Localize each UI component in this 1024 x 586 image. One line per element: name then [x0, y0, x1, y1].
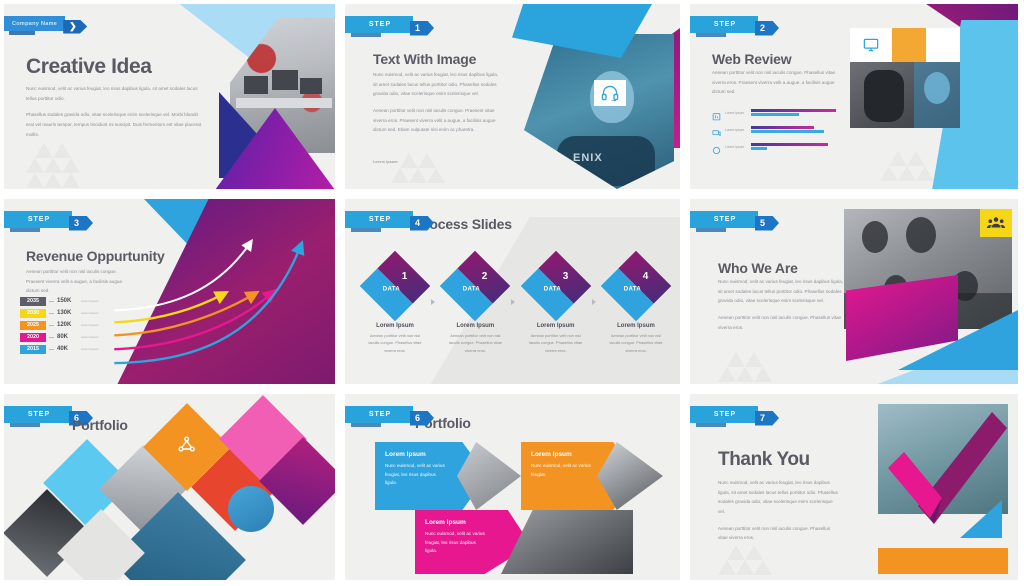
body-paragraph: Aenean porttitor velit non nisl iaculis …	[26, 267, 130, 296]
step-ribbon: STEP	[345, 211, 413, 228]
step-ribbon: STEP	[345, 16, 413, 33]
step-body: Aenean porttitor velit non nisl iaculis …	[361, 332, 429, 354]
legend-year: 2025	[20, 321, 46, 330]
slide-cell-7[interactable]: STEP 6 Portfolio	[0, 390, 341, 586]
chart-row: Lorem Ipsum	[712, 121, 839, 138]
panel-body: Nunc euismod, velit ac varius feugiat, l…	[425, 530, 487, 556]
step-heading: Lorem Ipsum	[441, 323, 509, 329]
slide-grid: Company Name ❯ Creative Idea Nunc euismo…	[0, 0, 1024, 586]
body-paragraph: Nunc euismod, velit ac varius feugiat, l…	[718, 277, 844, 306]
legend-caption: Lorem Ipsum	[81, 335, 103, 339]
step-badge[interactable]: STEP 7	[690, 406, 779, 423]
body-paragraph: Aenean porttitor velit non nisl iaculis …	[712, 68, 836, 97]
panel-body: Nunc euismod, velit ac varius feugiat, l…	[385, 462, 447, 488]
slide-cell-8[interactable]: STEP 6 Portfolio Lorem Ipsum Nunc euismo…	[341, 390, 686, 586]
step-heading: Lorem Ipsum	[361, 323, 429, 329]
photo-shirt: ENIX	[557, 136, 655, 186]
step-label: STEP	[714, 411, 736, 418]
slide-cell-6[interactable]: STEP 5 Who We Are Nunc euismod, velit ac…	[686, 195, 1024, 390]
circle-icon	[712, 142, 721, 151]
body-paragraph: Aenean porttitor velit non nisl iaculis …	[718, 524, 840, 543]
step-diamond: 1 DATA	[360, 251, 431, 322]
process-step[interactable]: 4 DATA Lorem Ipsum Aenean porttitor veli…	[602, 261, 670, 354]
legend-year: 2015	[20, 345, 46, 354]
legend-caption: Lorem Ipsum	[81, 347, 103, 351]
caption: Lorem Ipsum	[373, 160, 398, 164]
monitor-icon	[850, 28, 892, 62]
legend-caption: Lorem Ipsum	[81, 323, 103, 327]
step-number: 3	[74, 219, 79, 228]
legend-dash	[49, 313, 54, 314]
legend-year: 2020	[20, 333, 46, 342]
orange-bar	[878, 548, 1008, 574]
legend-year: 2030	[20, 309, 46, 318]
slide-cell-3[interactable]: STEP 2 Web Review Aenean porttitor velit…	[686, 0, 1024, 195]
page-title: Who We Are	[718, 261, 798, 275]
step-number: 2	[760, 24, 765, 33]
step-diamond: 2 DATA	[440, 251, 511, 322]
slide-cell-5[interactable]: STEP 4 Process Slides 1 DATA	[341, 195, 686, 390]
legend-value: 80K	[57, 334, 81, 340]
step-label: STEP	[714, 216, 736, 223]
page-title: Creative Idea	[26, 56, 152, 77]
step-number-knob: 3	[69, 216, 93, 231]
amber-block	[892, 28, 926, 62]
body-paragraph: Aenean porttitor velit non nisl iaculis …	[373, 106, 501, 135]
step-label: STEP	[28, 411, 50, 418]
step-heading: Lorem Ipsum	[602, 323, 670, 329]
step-ribbon: STEP	[4, 211, 72, 228]
chart-bars	[751, 109, 839, 117]
photo-face	[924, 72, 950, 104]
step-arrow-icon	[511, 299, 515, 305]
step-body: Aenean porttitor velit non nisl iaculis …	[522, 332, 590, 354]
company-ribbon: Company Name	[4, 16, 65, 31]
chart-bars	[751, 126, 839, 134]
slide-portfolio-panels[interactable]: STEP 6 Portfolio Lorem Ipsum Nunc euismo…	[345, 394, 680, 580]
step-badge[interactable]: STEP 6	[345, 406, 434, 423]
slide-who-we-are[interactable]: STEP 5 Who We Are Nunc euismod, velit ac…	[690, 199, 1018, 384]
legend-value: 120K	[57, 322, 81, 328]
legend-dash	[49, 325, 54, 326]
step-body: Aenean porttitor velit non nisl iaculis …	[441, 332, 509, 354]
step-number: 6	[415, 414, 420, 423]
headset-icon	[594, 80, 626, 106]
process-step[interactable]: 2 DATA Lorem Ipsum Aenean porttitor veli…	[441, 261, 509, 354]
bar-primary	[751, 126, 814, 129]
badge-tail	[351, 423, 381, 427]
page-title: Thank You	[718, 450, 810, 469]
panel-heading: Lorem Ipsum	[385, 451, 477, 458]
body-paragraph: Phasellus sodales gravida odio, vitae sc…	[26, 110, 206, 139]
step-label: STEP	[369, 21, 391, 28]
step-label: STEP	[714, 21, 736, 28]
chart-bars	[751, 143, 839, 151]
company-name-badge[interactable]: Company Name ❯	[4, 16, 87, 31]
slide-creative-idea[interactable]: Company Name ❯ Creative Idea Nunc euismo…	[4, 4, 335, 189]
panel-photo-classroom	[501, 510, 633, 574]
slide-portfolio-mosaic[interactable]: STEP 6 Portfolio	[4, 394, 335, 580]
step-arrow-icon	[431, 299, 435, 305]
slide-text-with-image[interactable]: ENIX STEP 1 Te	[345, 4, 680, 189]
process-steps: 1 DATA Lorem Ipsum Aenean porttitor veli…	[361, 261, 670, 354]
chevron-right-icon: ❯	[63, 20, 87, 34]
revenue-legend: 2035 150K Lorem Ipsum 2030 130K Lorem Ip…	[20, 295, 103, 355]
slide-cell-9[interactable]: STEP 7 Thank You Nunc euismod, velit ac …	[686, 390, 1024, 586]
legend-row: 2025 120K Lorem Ipsum	[20, 319, 103, 331]
body-paragraph: Nunc euismod, velit ac varius feugiat, l…	[26, 84, 206, 103]
slide-process[interactable]: STEP 4 Process Slides 1 DATA	[345, 199, 680, 384]
step-number: 7	[760, 414, 765, 423]
badge-tail	[9, 31, 35, 35]
legend-dash	[49, 337, 54, 338]
person-photo: ENIX	[524, 34, 674, 189]
step-data-label: DATA	[527, 287, 577, 293]
legend-value: 40K	[57, 346, 81, 352]
step-diamond: 4 DATA	[601, 251, 672, 322]
chart-row-label: Lorem Ipsum	[725, 128, 751, 132]
body-paragraph: Nunc euismod, velit ac varius feugiat, l…	[718, 478, 840, 517]
step-number-knob: 7	[755, 411, 779, 426]
page-title: Text With Image	[373, 52, 476, 66]
step-badge[interactable]: STEP 1	[345, 16, 434, 33]
slide-web-review[interactable]: STEP 2 Web Review Aenean porttitor velit…	[690, 4, 1018, 189]
page-title: Web Review	[712, 52, 791, 66]
step-data-label: DATA	[447, 287, 497, 293]
badge-tail	[696, 33, 726, 37]
step-badge[interactable]: STEP 2	[690, 16, 779, 33]
page-title: Portfolio	[72, 418, 128, 432]
body-paragraph: Nunc euismod, velit ac varius feugiat, l…	[373, 70, 501, 99]
triangle-watermark	[718, 351, 804, 384]
step-badge[interactable]: STEP 5	[690, 211, 779, 228]
step-number-knob: 2	[755, 21, 779, 36]
company-name-label: Company Name	[12, 21, 57, 27]
process-step[interactable]: 1 DATA Lorem Ipsum Aenean porttitor veli…	[361, 261, 429, 354]
legend-dash	[49, 349, 54, 350]
photo-chair	[864, 70, 904, 122]
step-data-label: DATA	[607, 287, 657, 293]
step-body: Aenean porttitor velit non nisl iaculis …	[602, 332, 670, 354]
step-ribbon: STEP	[345, 406, 413, 423]
workspace-photo	[850, 62, 960, 128]
bar-secondary	[751, 113, 799, 116]
badge-tail	[10, 423, 40, 427]
panel-heading: Lorem Ipsum	[425, 519, 521, 526]
step-number: 2	[460, 271, 510, 282]
slide-cell-4[interactable]: STEP 3 Revenue Oppurtunity Aenean portti…	[0, 195, 341, 390]
legend-row: 2020 80K Lorem Ipsum	[20, 331, 103, 343]
legend-caption: Lorem Ipsum	[81, 311, 103, 315]
process-step[interactable]: 3 DATA Lorem Ipsum Aenean porttitor veli…	[522, 261, 590, 354]
step-label: STEP	[369, 411, 391, 418]
step-ribbon: STEP	[690, 211, 758, 228]
step-arrow-icon	[592, 299, 596, 305]
step-ribbon: STEP	[4, 406, 72, 423]
people-group-icon	[980, 209, 1012, 237]
step-badge[interactable]: STEP 4	[345, 211, 434, 228]
badge-tail	[10, 228, 40, 232]
step-number: 1	[415, 24, 420, 33]
chart-bar-icon	[712, 108, 721, 117]
badge-tail	[696, 228, 726, 232]
badge-tail	[696, 423, 726, 427]
step-data-label: DATA	[366, 287, 416, 293]
step-number: 4	[621, 271, 671, 282]
slide-revenue-opportunity[interactable]: STEP 3 Revenue Oppurtunity Aenean portti…	[4, 199, 335, 384]
triangle-watermark	[26, 142, 112, 188]
bar-primary	[751, 143, 828, 146]
step-number: 1	[380, 271, 430, 282]
chart-row: Lorem Ipsum	[712, 138, 839, 155]
slide-cell-1[interactable]: Company Name ❯ Creative Idea Nunc euismo…	[0, 0, 341, 195]
chart-row-label: Lorem Ipsum	[725, 145, 751, 149]
chart-row-label: Lorem Ipsum	[725, 111, 751, 115]
step-number: 4	[415, 219, 420, 228]
slide-thank-you[interactable]: STEP 7 Thank You Nunc euismod, velit ac …	[690, 394, 1018, 580]
triangle-watermark	[391, 152, 477, 189]
magenta-panel	[117, 199, 335, 384]
step-diamond: 3 DATA	[520, 251, 591, 322]
network-share-icon	[177, 435, 197, 460]
step-number-knob: 1	[410, 21, 434, 36]
photo-shirt-text: ENIX	[573, 152, 603, 164]
mosaic-globe	[228, 486, 274, 532]
step-label: STEP	[369, 216, 391, 223]
step-ribbon: STEP	[690, 16, 758, 33]
panel-body: Nunc euismod, velit ac varius feugiat.	[531, 462, 593, 479]
page-title: Revenue Oppurtunity	[26, 249, 165, 263]
step-ribbon: STEP	[690, 406, 758, 423]
bar-secondary	[751, 130, 824, 133]
step-badge[interactable]: STEP 3	[4, 211, 93, 228]
step-label: STEP	[28, 216, 50, 223]
chat-bubble-icon	[712, 125, 721, 134]
badge-tail	[351, 33, 381, 37]
chart-row: Lorem Ipsum	[712, 104, 839, 121]
badge-tail	[351, 228, 381, 232]
step-heading: Lorem Ipsum	[522, 323, 590, 329]
legend-row: 2015 40K Lorem Ipsum	[20, 343, 103, 355]
step-number: 3	[540, 271, 590, 282]
bar-chart: Lorem Ipsum Lorem Ipsum	[712, 104, 839, 155]
bar-secondary	[751, 147, 767, 150]
slide-cell-2[interactable]: ENIX STEP 1 Te	[341, 0, 686, 195]
body-paragraph: Aenean porttitor velit non nisl iaculis …	[718, 313, 844, 332]
step-number-knob: 5	[755, 216, 779, 231]
legend-value: 130K	[57, 310, 81, 316]
review-photo-block	[850, 28, 960, 128]
legend-row: 2030 130K Lorem Ipsum	[20, 307, 103, 319]
bar-primary	[751, 109, 836, 112]
step-number: 5	[760, 219, 765, 228]
